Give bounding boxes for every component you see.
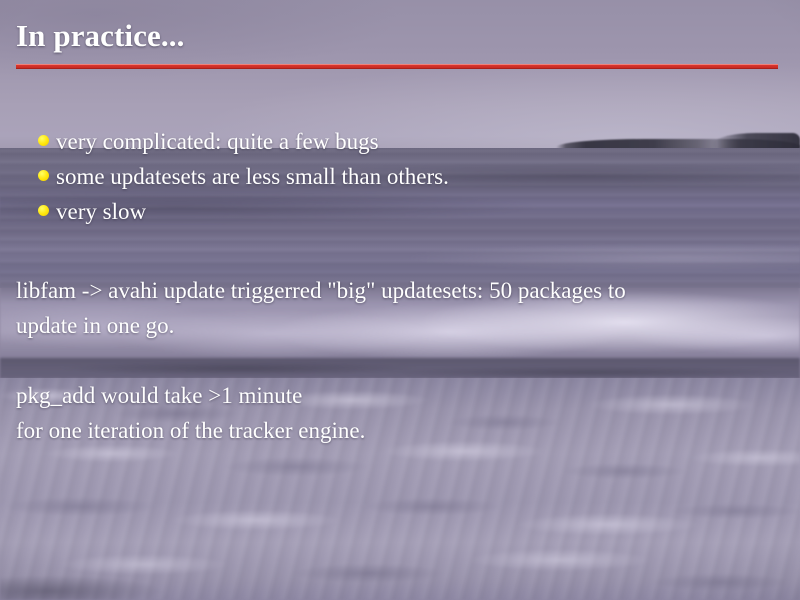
- body-line: pkg_add would take >1 minute: [16, 378, 776, 413]
- list-item-label: very complicated: quite a few bugs: [56, 130, 379, 153]
- body-line: for one iteration of the tracker engine.: [16, 413, 776, 448]
- slide-content: In practice... very complicated: quite a…: [0, 0, 800, 600]
- list-item: some updatesets are less small than othe…: [38, 165, 758, 200]
- title-underline-rule: [16, 64, 778, 69]
- body-paragraph: pkg_add would take >1 minute for one ite…: [16, 378, 776, 448]
- body-line: update in one go.: [16, 308, 776, 343]
- slide-title: In practice...: [16, 18, 184, 54]
- list-item: very complicated: quite a few bugs: [38, 130, 758, 165]
- presentation-slide: In practice... very complicated: quite a…: [0, 0, 800, 600]
- bullet-dot-icon: [38, 135, 49, 146]
- body-paragraph: libfam -> avahi update triggerred "big" …: [16, 273, 776, 343]
- body-line: libfam -> avahi update triggerred "big" …: [16, 273, 776, 308]
- bullet-dot-icon: [38, 205, 49, 216]
- bullet-dot-icon: [38, 170, 49, 181]
- list-item-label: some updatesets are less small than othe…: [56, 165, 449, 188]
- list-item-label: very slow: [56, 200, 146, 223]
- bullet-list: very complicated: quite a few bugs some …: [38, 130, 758, 235]
- list-item: very slow: [38, 200, 758, 235]
